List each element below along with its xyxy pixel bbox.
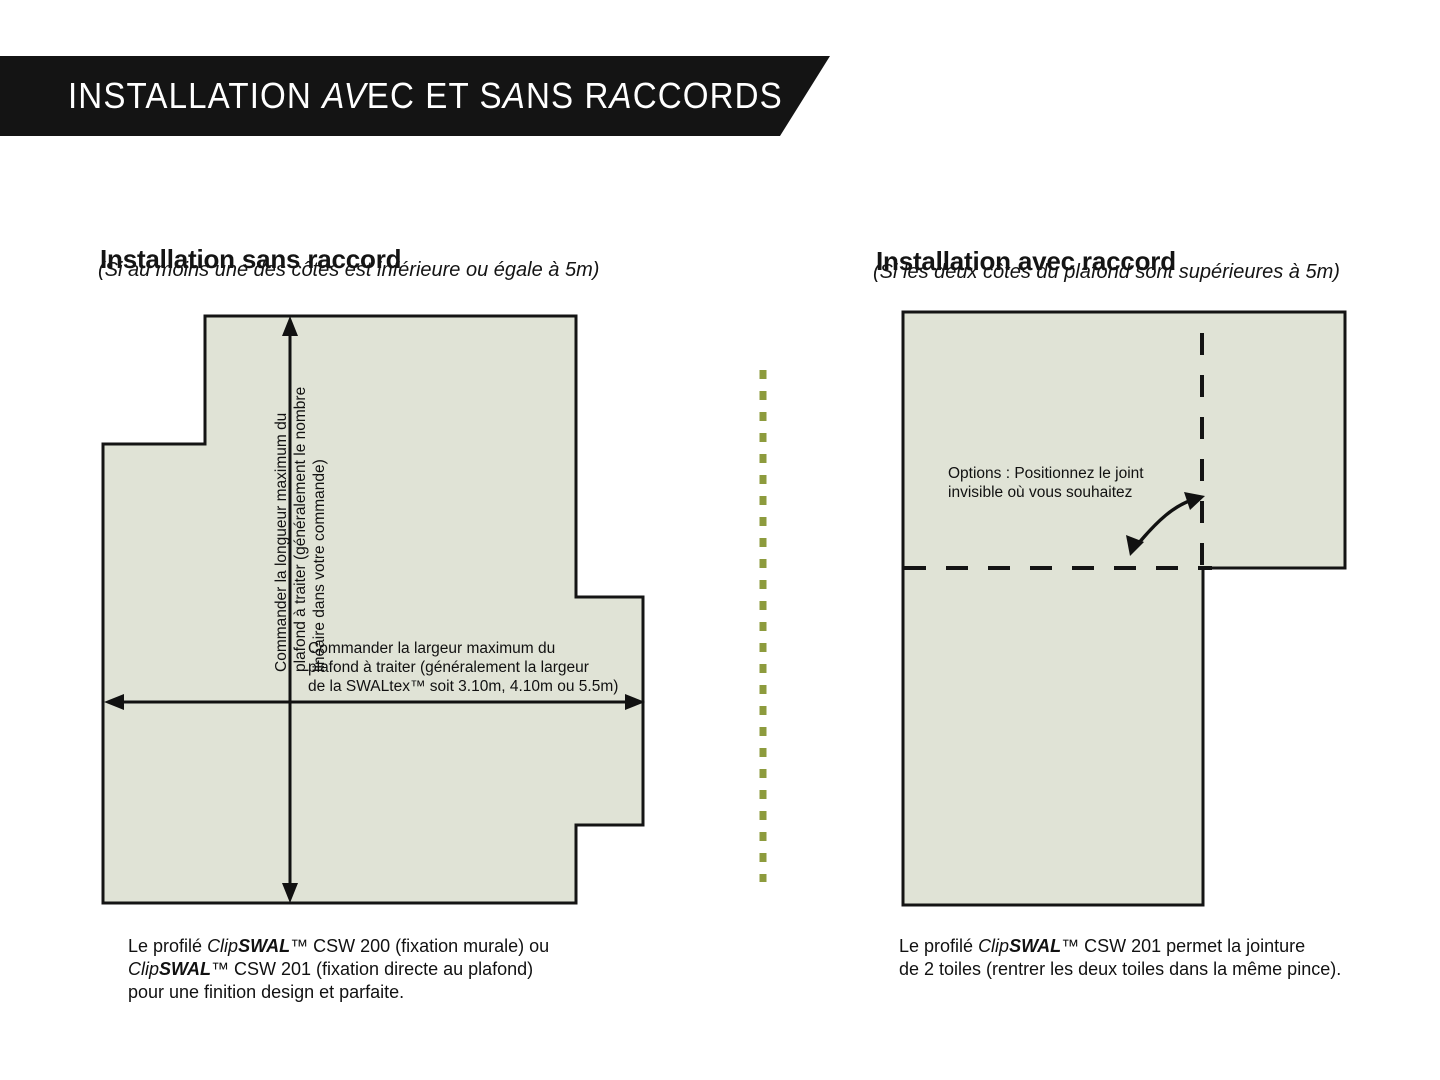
ceiling-upper-section xyxy=(903,312,1345,568)
length-label-rotated-wrapper: Commander la longueur maximum du plafond… xyxy=(272,352,329,672)
ceiling-outline-shape xyxy=(103,316,643,903)
brand-text-2: ClipSWAL xyxy=(128,959,211,979)
caption-right-text-a: Le profilé xyxy=(899,936,978,956)
caption-left-text-d: pour une finition design et parfaite. xyxy=(128,982,404,1002)
caption-right-brand-1: ClipSWAL xyxy=(978,936,1061,956)
caption-left-brand-1: ClipSWAL xyxy=(207,936,290,956)
left-ceiling-diagram xyxy=(0,0,760,1080)
caption-right-text-c: de 2 toiles (rentrer les deux toiles dan… xyxy=(899,959,1341,979)
caption-right-text-b: ™ CSW 201 permet la jointure xyxy=(1061,936,1305,956)
right-ceiling-diagram xyxy=(760,0,1440,1080)
left-panel-caption: Le profilé ClipSWAL™ CSW 200 (fixation m… xyxy=(128,935,598,1004)
label-options-joint: Options : Positionnez le joint invisible… xyxy=(948,464,1208,502)
caption-left-brand-2: ClipSWAL xyxy=(128,959,211,979)
caption-left-text-a: Le profilé xyxy=(128,936,207,956)
brand-text-1: ClipSWAL xyxy=(207,936,290,956)
caption-left-text-b: ™ CSW 200 (fixation murale) ou xyxy=(290,936,549,956)
label-commander-longueur: Commander la longueur maximum du plafond… xyxy=(272,352,329,672)
label-commander-largeur: Commander la largeur maximum du plafond … xyxy=(308,639,638,696)
right-panel-caption: Le profilé ClipSWAL™ CSW 201 permet la j… xyxy=(899,935,1419,981)
panel-installation-sans-raccord: Installation sans raccord (Si au moins u… xyxy=(0,0,760,1080)
caption-left-text-c: ™ CSW 201 (fixation directe au plafond) xyxy=(211,959,533,979)
brand-text-3: ClipSWAL xyxy=(978,936,1061,956)
panel-installation-avec-raccord: Installation avec raccord (Si les deux c… xyxy=(760,0,1440,1080)
ceiling-lower-section xyxy=(903,568,1203,905)
